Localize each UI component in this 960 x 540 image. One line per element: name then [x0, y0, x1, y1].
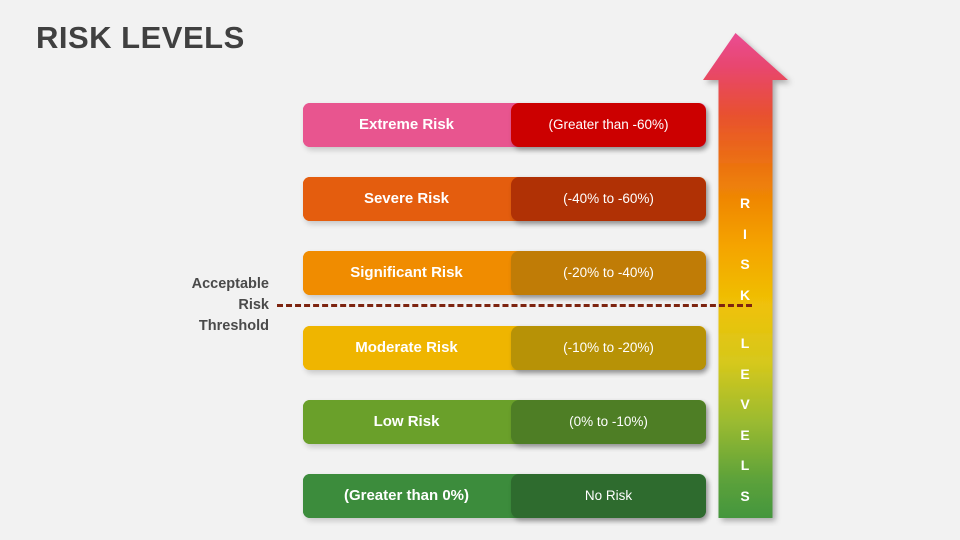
risk-row-extreme[interactable]: Extreme Risk (Greater than -60%)	[303, 103, 706, 147]
risk-row-moderate[interactable]: Moderate Risk (-10% to -20%)	[303, 326, 706, 370]
risk-row-no-risk[interactable]: (Greater than 0%) No Risk	[303, 474, 706, 518]
risk-row-label: Low Risk	[303, 400, 512, 444]
risk-row-label: Moderate Risk	[303, 326, 512, 370]
risk-row-range: (-10% to -20%)	[511, 326, 706, 370]
page-title: RISK LEVELS	[36, 18, 245, 58]
threshold-line-1: Acceptable	[119, 274, 269, 295]
arrow-shape-icon	[698, 28, 798, 526]
acceptable-risk-threshold-line	[277, 304, 752, 307]
risk-row-severe[interactable]: Severe Risk (-40% to -60%)	[303, 177, 706, 221]
risk-row-range: (-40% to -60%)	[511, 177, 706, 221]
risk-row-range: (-20% to -40%)	[511, 251, 706, 295]
risk-row-label: Extreme Risk	[303, 103, 512, 147]
risk-level-arrow: R I S K L E V E L S	[698, 28, 798, 526]
risk-row-label: Severe Risk	[303, 177, 512, 221]
risk-row-label: (Greater than 0%)	[303, 474, 512, 518]
slide-canvas: RISK LEVELS	[0, 0, 960, 540]
risk-row-significant[interactable]: Significant Risk (-20% to -40%)	[303, 251, 706, 295]
risk-row-range: (0% to -10%)	[511, 400, 706, 444]
threshold-line-2: Risk	[119, 295, 269, 316]
risk-row-label: Significant Risk	[303, 251, 512, 295]
risk-row-range: No Risk	[511, 474, 706, 518]
threshold-line-3: Threshold	[119, 316, 269, 337]
risk-row-low[interactable]: Low Risk (0% to -10%)	[303, 400, 706, 444]
risk-row-range: (Greater than -60%)	[511, 103, 706, 147]
acceptable-risk-threshold-label: Acceptable Risk Threshold	[119, 274, 269, 337]
